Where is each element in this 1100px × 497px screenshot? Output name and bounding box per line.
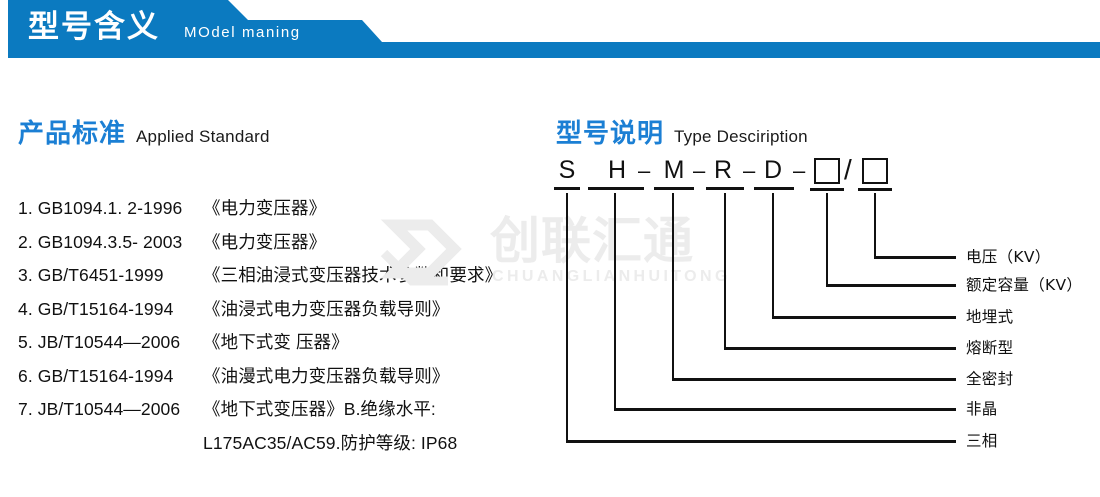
standard-name: 《油浸式电力变压器负载导则》 — [203, 293, 548, 327]
standards-list-item: 6. GB/T15164-1994 《油漫式电力变压器负载导则》 — [18, 360, 548, 394]
page-root: 型号含义 MOdel maning 产品标准Applied Standard 1… — [0, 0, 1100, 497]
code-underline-H — [588, 187, 644, 190]
standards-list-item: 4. GB/T15164-1994 《油浸式电力变压器负载导则》 — [18, 293, 548, 327]
code-underline-D — [754, 187, 794, 190]
code-box-capacity — [814, 158, 840, 184]
standards-list-item: 5. JB/T10544—2006 《地下式变 压器》 — [18, 326, 548, 360]
standards-list-item-continuation: L175AC35/AC59.防护等级: IP68 — [18, 427, 548, 461]
standard-code: 2. GB1094.3.5- 2003 — [18, 226, 203, 260]
code-underline-capacity — [810, 188, 844, 191]
code-char-R: R — [712, 155, 734, 185]
leader-line-capacity-v — [826, 193, 828, 285]
type-description-heading-en: Type Desciription — [674, 127, 808, 146]
code-dash-4: – — [793, 156, 805, 186]
code-char-D: D — [762, 155, 784, 185]
standard-code: 3. GB/T6451-1999 — [18, 259, 203, 293]
header-banner-shape — [0, 0, 1100, 58]
leader-line-capacity-h — [826, 284, 956, 287]
standard-name: 《地下式变 压器》 — [203, 326, 548, 360]
type-description-heading: 型号说明Type Desciription — [556, 113, 808, 150]
leader-line-h-v — [614, 193, 616, 409]
leader-line-voltage-h — [874, 256, 956, 259]
header-title-cn: 型号含义 — [28, 8, 160, 46]
standard-code: 4. GB/T15164-1994 — [18, 293, 203, 327]
legend-label-amorphous: 非晶 — [966, 399, 998, 419]
standards-list-item: 3. GB/T6451-1999 《三相油浸式变压器技术参数和要求》 — [18, 259, 548, 293]
header-title-en: MOdel maning — [184, 23, 301, 43]
type-description-heading-cn: 型号说明 — [556, 119, 664, 149]
standards-heading: 产品标准Applied Standard — [18, 113, 270, 150]
legend-label-three-phase: 三相 — [966, 431, 998, 451]
leader-line-m-v — [672, 193, 674, 379]
code-dash-1: – — [638, 156, 650, 186]
standards-list-item: 2. GB1094.3.5- 2003 《电力变压器》 — [18, 226, 548, 260]
code-char-S: S — [556, 155, 578, 185]
code-underline-M — [654, 187, 694, 190]
model-code-row: S H – M – R – D – / — [550, 155, 950, 197]
leader-line-d-v — [772, 193, 774, 317]
legend-label-capacity: 额定容量（KV） — [966, 275, 1082, 295]
standard-name: 《电力变压器》 — [203, 192, 548, 226]
standards-list-item: 1. GB1094.1. 2-1996 《电力变压器》 — [18, 192, 548, 226]
code-box-voltage — [862, 158, 888, 184]
leader-line-s-h — [566, 440, 956, 443]
type-code-diagram: S H – M – R – D – / — [550, 155, 1100, 485]
leader-line-r-v — [724, 193, 726, 348]
standards-heading-en: Applied Standard — [136, 127, 270, 146]
code-underline-S — [554, 187, 580, 190]
code-char-H: H — [606, 155, 628, 185]
leader-line-r-h — [724, 347, 956, 350]
header-banner: 型号含义 MOdel maning — [0, 0, 1100, 58]
legend-label-buried: 地埋式 — [966, 307, 1013, 327]
standard-name: 《电力变压器》 — [203, 226, 548, 260]
code-char-M: M — [662, 155, 686, 185]
standard-code: 7. JB/T10544—2006 — [18, 393, 203, 427]
standard-name: 《油漫式电力变压器负载导则》 — [203, 360, 548, 394]
leader-line-d-h — [772, 316, 956, 319]
code-slash: / — [844, 155, 852, 185]
legend-label-fuse: 熔断型 — [966, 338, 1013, 358]
leader-line-s-v — [566, 193, 568, 441]
leader-line-h-h — [614, 408, 956, 411]
legend-label-voltage: 电压（KV） — [966, 247, 1051, 267]
standards-heading-cn: 产品标准 — [18, 119, 126, 149]
code-dash-2: – — [693, 156, 705, 186]
standards-list: 1. GB1094.1. 2-1996 《电力变压器》 2. GB1094.3.… — [18, 192, 548, 460]
standard-name: L175AC35/AC59.防护等级: IP68 — [203, 427, 548, 461]
standard-name: 《三相油浸式变压器技术参数和要求》 — [203, 259, 548, 293]
standard-code: 1. GB1094.1. 2-1996 — [18, 192, 203, 226]
standard-code: 5. JB/T10544—2006 — [18, 326, 203, 360]
code-dash-3: – — [743, 156, 755, 186]
leader-line-voltage-v — [874, 193, 876, 257]
standard-code: 6. GB/T15164-1994 — [18, 360, 203, 394]
standard-name: 《地下式变压器》B.绝缘水平: — [203, 393, 548, 427]
legend-label-sealed: 全密封 — [966, 369, 1013, 389]
leader-line-m-h — [672, 378, 956, 381]
standards-list-item: 7. JB/T10544—2006 《地下式变压器》B.绝缘水平: — [18, 393, 548, 427]
code-underline-voltage — [858, 188, 892, 191]
code-underline-R — [706, 187, 744, 190]
